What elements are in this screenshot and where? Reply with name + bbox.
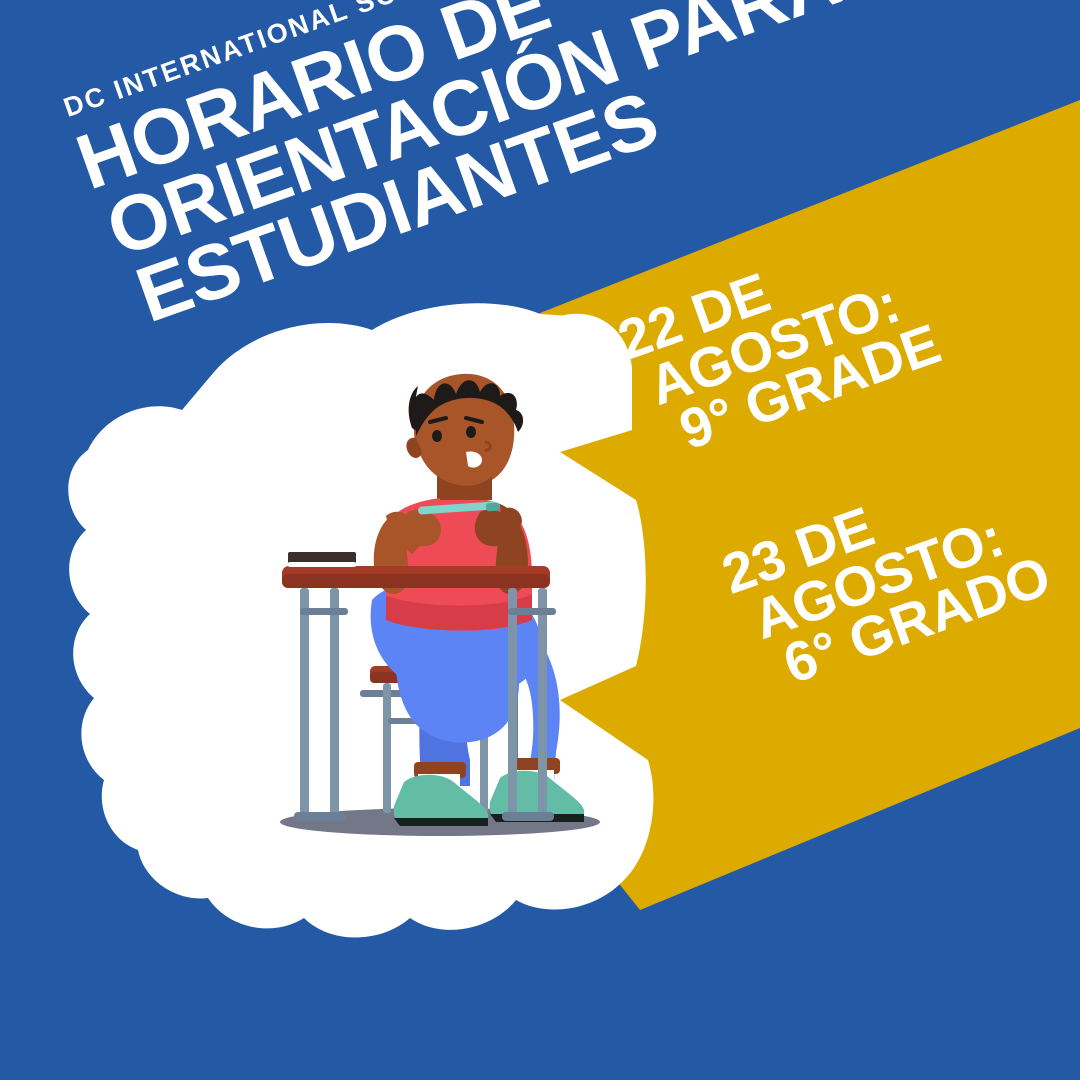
poster-canvas: DC INTERNATIONAL SCHOOL HORARIO DE ORIEN… bbox=[0, 0, 1080, 1080]
eye-near bbox=[466, 426, 476, 438]
book bbox=[288, 552, 356, 567]
student-at-desk-illustration bbox=[0, 0, 1080, 1080]
eye-far bbox=[432, 430, 442, 442]
student-figure bbox=[371, 374, 585, 826]
